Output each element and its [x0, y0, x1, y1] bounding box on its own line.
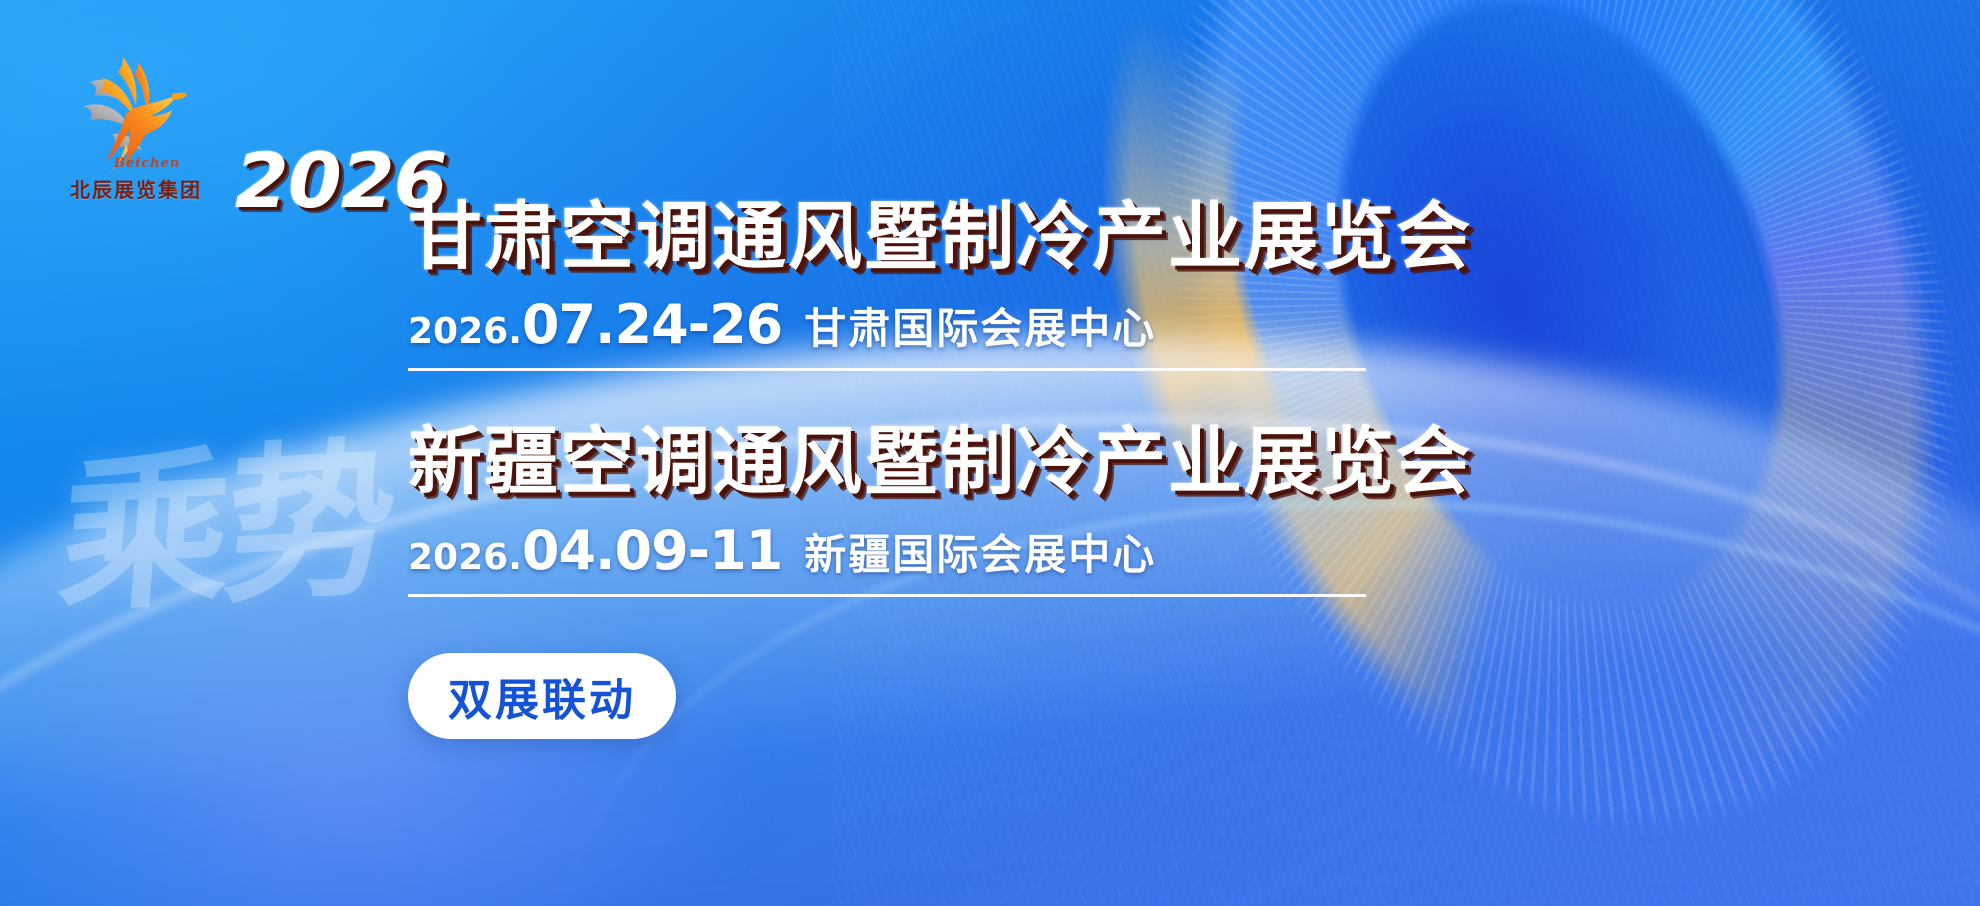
- pill-label: 双展联动: [448, 664, 636, 728]
- main-content: 甘肃空调通风暨制冷产业展览会 2026.07.24-26 甘肃国际会展中心 新疆…: [408, 200, 1668, 739]
- event-title: 新疆空调通风暨制冷产业展览会: [408, 425, 1668, 500]
- event-date-year: 2026.: [408, 311, 522, 352]
- brand-logo-block: Beichen 北辰展览集团 2026: [62, 48, 362, 208]
- event-subline: 2026.04.09-11 新疆国际会展中心: [408, 519, 1366, 597]
- dual-exhibition-pill-button[interactable]: 双展联动: [408, 653, 676, 739]
- event-venue: 甘肃国际会展中心: [804, 295, 1156, 356]
- event-subline: 2026.07.24-26 甘肃国际会展中心: [408, 293, 1366, 371]
- event-block-xinjiang: 新疆空调通风暨制冷产业展览会 2026.04.09-11 新疆国际会展中心: [408, 425, 1668, 596]
- exhibition-banner: 乘势: [0, 0, 1980, 906]
- event-title: 甘肃空调通风暨制冷产业展览会: [408, 200, 1668, 275]
- logo-chinese-text: 北辰展览集团: [70, 174, 202, 203]
- event-date-main: 07.24-26: [522, 293, 782, 356]
- event-block-gansu: 甘肃空调通风暨制冷产业展览会 2026.07.24-26 甘肃国际会展中心: [408, 200, 1668, 371]
- calligraphy-watermark: 乘势: [52, 379, 411, 646]
- event-date-year: 2026.: [408, 537, 522, 578]
- event-date-main: 04.09-11: [522, 519, 782, 582]
- event-venue: 新疆国际会展中心: [804, 521, 1156, 582]
- logo-english-text: Beichen: [114, 156, 180, 171]
- event-date: 2026.07.24-26: [408, 293, 782, 356]
- section-spacer: [408, 371, 1668, 425]
- event-date: 2026.04.09-11: [408, 519, 782, 582]
